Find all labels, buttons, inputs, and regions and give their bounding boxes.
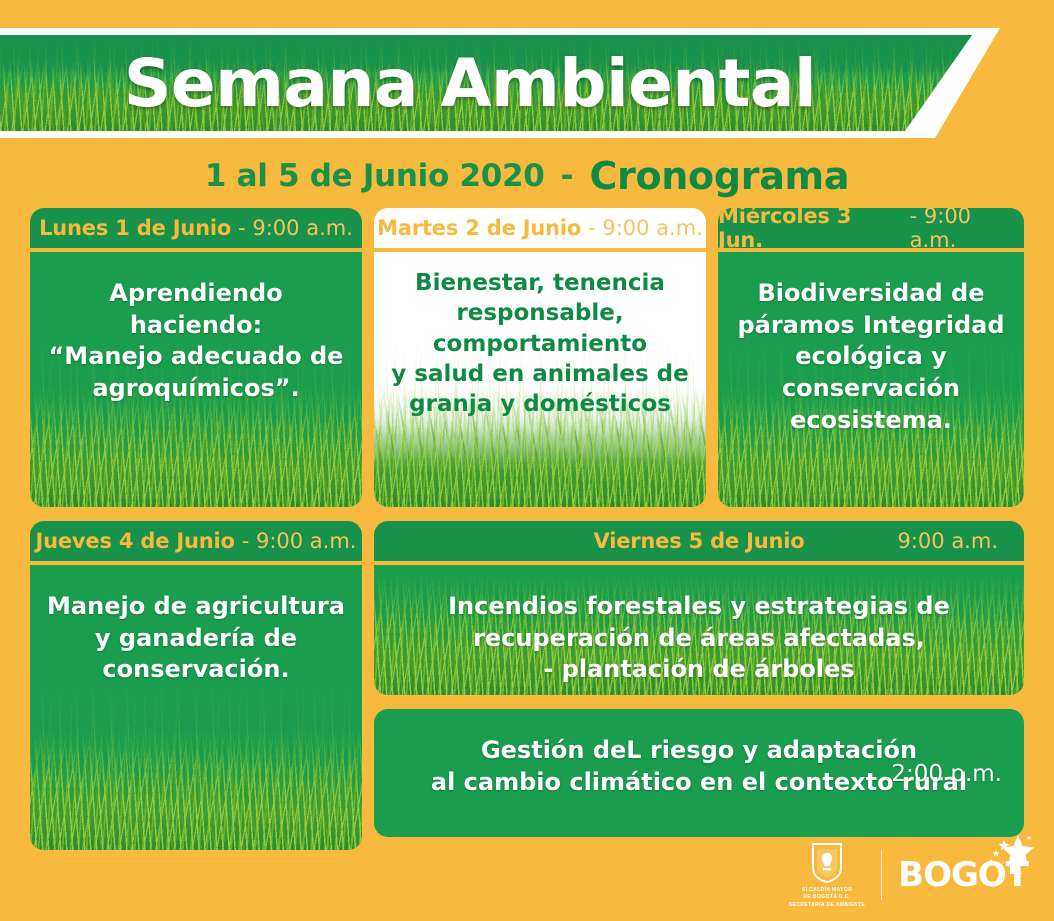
card-miercoles[interactable]: Miércoles 3 Jun. - 9:00 a.m. Biodiversid… bbox=[718, 208, 1024, 507]
card-viernes-header: Viernes 5 de Junio 9:00 a.m. bbox=[374, 521, 1024, 565]
card-viernes-session-1[interactable]: Viernes 5 de Junio 9:00 a.m. Incendios f… bbox=[374, 521, 1024, 695]
bogota-star-icon bbox=[988, 834, 1034, 874]
schedule-row-2: Jueves 4 de Junio - 9:00 a.m. Manejo de … bbox=[30, 521, 1024, 850]
grass-texture-tall-icon bbox=[30, 682, 362, 850]
subtitle-section-label: Cronograma bbox=[589, 154, 849, 198]
schedule-grid: Lunes 1 de Junio - 9:00 a.m. Aprendiendo… bbox=[30, 208, 1024, 850]
card-lunes-time: - 9:00 a.m. bbox=[238, 216, 353, 240]
card-jueves-text: Manejo de agricultura y ganadería de con… bbox=[31, 565, 361, 686]
card-jueves-time: - 9:00 a.m. bbox=[242, 529, 357, 553]
card-viernes-session-2[interactable]: Gestión deL riesgo y adaptación al cambi… bbox=[374, 709, 1024, 837]
schedule-row-1: Lunes 1 de Junio - 9:00 a.m. Aprendiendo… bbox=[30, 208, 1024, 507]
card-viernes-body-1: Incendios forestales y estrategias de re… bbox=[374, 565, 1024, 695]
card-miercoles-time: - 9:00 a.m. bbox=[910, 208, 1024, 252]
header-banner: Semana Ambiental bbox=[0, 28, 1000, 138]
card-miercoles-text: Biodiversidad de páramos Integridad ecol… bbox=[721, 252, 1020, 436]
subtitle-row: 1 al 5 de Junio 2020 - Cronograma bbox=[0, 152, 1054, 200]
bogota-logo: BOGOT bbox=[898, 858, 1028, 892]
card-lunes[interactable]: Lunes 1 de Junio - 9:00 a.m. Aprendiendo… bbox=[30, 208, 362, 507]
alcaldia-logo: ALCALDÍA MAYOR DE BOGOTÁ D.C. SECRETARÍA… bbox=[789, 842, 865, 910]
card-viernes-session2-time: 2:00 p.m. bbox=[891, 761, 1002, 787]
alcaldia-shield-icon bbox=[810, 842, 844, 884]
card-martes-body: Bienestar, tenencia responsable, comport… bbox=[374, 252, 706, 507]
card-viernes-day: Viernes 5 de Junio bbox=[594, 529, 805, 553]
card-martes[interactable]: Martes 2 de Junio - 9:00 a.m. Bienestar,… bbox=[374, 208, 706, 507]
card-jueves-header: Jueves 4 de Junio - 9:00 a.m. bbox=[30, 521, 362, 565]
page-title: Semana Ambiental bbox=[0, 28, 1000, 138]
subtitle-separator: - bbox=[561, 158, 574, 194]
card-jueves[interactable]: Jueves 4 de Junio - 9:00 a.m. Manejo de … bbox=[30, 521, 362, 850]
card-martes-time: - 9:00 a.m. bbox=[588, 216, 703, 240]
card-lunes-header: Lunes 1 de Junio - 9:00 a.m. bbox=[30, 208, 362, 252]
poster-root: Semana Ambiental 1 al 5 de Junio 2020 - … bbox=[0, 0, 1054, 921]
card-martes-day: Martes 2 de Junio bbox=[377, 216, 581, 240]
card-jueves-day: Jueves 4 de Junio bbox=[36, 529, 235, 553]
card-lunes-day: Lunes 1 de Junio bbox=[39, 216, 231, 240]
footer-divider bbox=[881, 850, 882, 900]
card-martes-header: Martes 2 de Junio - 9:00 a.m. bbox=[374, 208, 706, 252]
grass-texture-icon bbox=[30, 730, 362, 850]
grass-texture-icon bbox=[30, 387, 362, 507]
card-viernes-time: 9:00 a.m. bbox=[897, 529, 998, 553]
alcaldia-caption: ALCALDÍA MAYOR DE BOGOTÁ D.C. SECRETARÍA… bbox=[789, 887, 865, 910]
card-miercoles-day: Miércoles 3 Jun. bbox=[718, 208, 903, 252]
card-lunes-body: Aprendiendo haciendo: “Manejo adecuado d… bbox=[30, 252, 362, 507]
footer-logos: ALCALDÍA MAYOR DE BOGOTÁ D.C. SECRETARÍA… bbox=[789, 842, 1028, 910]
card-jueves-body: Manejo de agricultura y ganadería de con… bbox=[30, 565, 362, 850]
card-viernes[interactable]: Viernes 5 de Junio 9:00 a.m. Incendios f… bbox=[374, 521, 1024, 850]
subtitle-dates: 1 al 5 de Junio 2020 bbox=[205, 158, 545, 194]
card-lunes-text: Aprendiendo haciendo: “Manejo adecuado d… bbox=[30, 252, 362, 405]
card-miercoles-header: Miércoles 3 Jun. - 9:00 a.m. bbox=[718, 208, 1024, 252]
card-miercoles-body: Biodiversidad de páramos Integridad ecol… bbox=[718, 252, 1024, 507]
card-martes-text: Bienestar, tenencia responsable, comport… bbox=[375, 252, 704, 420]
card-viernes-session1-text: Incendios forestales y estrategias de re… bbox=[432, 565, 966, 686]
